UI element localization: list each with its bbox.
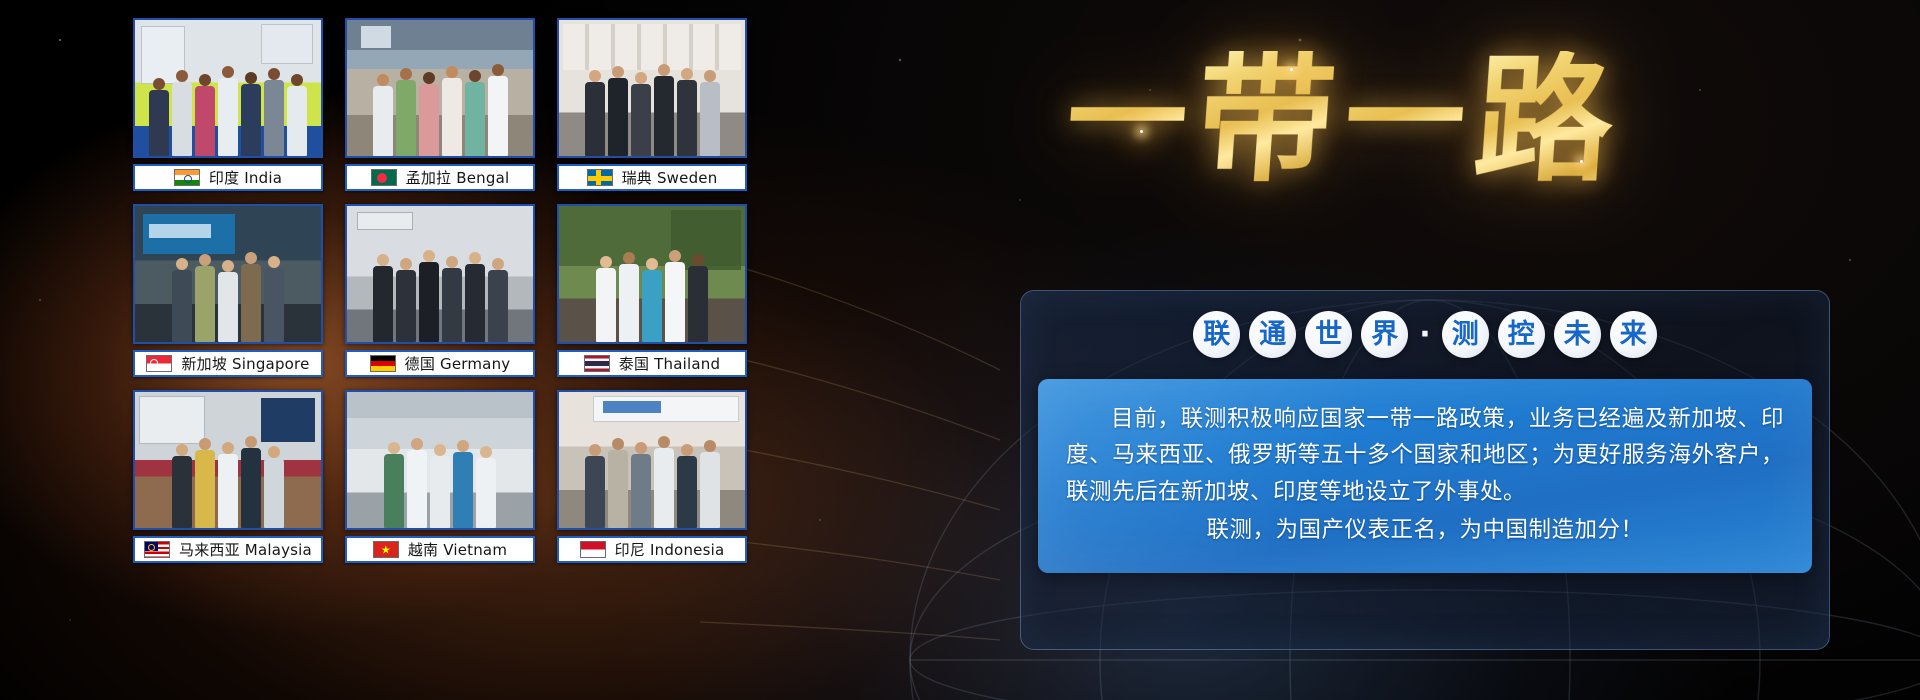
photo-caption: 新加坡 Singapore [133, 350, 323, 377]
slogan-badge: 联 [1193, 311, 1240, 358]
photo-thumbnail[interactable] [557, 390, 747, 530]
flag-sweden-icon [587, 169, 613, 186]
slogan-badge: 来 [1610, 311, 1657, 358]
headline-char-2: 带 [1192, 51, 1340, 189]
photo-cell[interactable]: 孟加拉 Bengal [345, 18, 535, 196]
photo-caption: 印尼 Indonesia [557, 536, 747, 563]
photo-cell[interactable]: 越南 Vietnam [345, 390, 535, 568]
headline-char-4: 路 [1470, 51, 1618, 189]
photo-image [347, 20, 533, 156]
caption-label: 德国 Germany [405, 353, 511, 374]
photo-caption: 德国 Germany [345, 350, 535, 377]
flag-thailand-icon [584, 355, 610, 372]
caption-label: 马来西亚 Malaysia [179, 539, 312, 560]
slogan-badge: 控 [1498, 311, 1545, 358]
photo-thumbnail[interactable] [345, 204, 535, 344]
description-paragraph-2: 联测，为国产仪表正名，为中国制造加分！ [1066, 512, 1784, 548]
headline-char-1: 一 [1063, 60, 1191, 180]
headline-char-3: 一 [1341, 60, 1469, 180]
photo-caption: 印度 India [133, 164, 323, 191]
caption-label: 越南 Vietnam [408, 539, 507, 560]
slogan-badge: 界 [1361, 311, 1408, 358]
sparkle-icon [1580, 160, 1583, 163]
photo-image [559, 392, 745, 528]
photo-thumbnail[interactable] [133, 18, 323, 158]
photo-thumbnail[interactable] [557, 204, 747, 344]
headline-calligraphy: 一 带 一 路 [1020, 10, 1660, 230]
photo-caption: 泰国 Thailand [557, 350, 747, 377]
photo-cell[interactable]: 德国 Germany [345, 204, 535, 382]
sparkle-icon [1290, 68, 1293, 71]
photo-thumbnail[interactable] [133, 204, 323, 344]
caption-label: 印度 India [209, 167, 282, 188]
info-panel: 联 通 世 界 · 测 控 未 来 目前，联测积极响应国家一带一路政策，业务已经… [1020, 290, 1830, 650]
slogan-badge: 测 [1442, 311, 1489, 358]
photo-image [559, 206, 745, 342]
photo-cell[interactable]: 印尼 Indonesia [557, 390, 747, 568]
photo-image [347, 206, 533, 342]
photo-thumbnail[interactable] [345, 18, 535, 158]
photo-caption: 瑞典 Sweden [557, 164, 747, 191]
slogan-badge: 未 [1554, 311, 1601, 358]
caption-label: 印尼 Indonesia [615, 539, 725, 560]
flag-vietnam-icon [373, 541, 399, 558]
flag-singapore-icon [146, 355, 172, 372]
caption-label: 孟加拉 Bengal [406, 167, 510, 188]
slogan-separator-dot: · [1417, 320, 1432, 350]
flag-india-icon [174, 169, 200, 186]
caption-label: 瑞典 Sweden [622, 167, 718, 188]
description-card: 目前，联测积极响应国家一带一路政策，业务已经遍及新加坡、印度、马来西亚、俄罗斯等… [1038, 379, 1812, 573]
slogan-badge: 通 [1249, 311, 1296, 358]
flag-indonesia-icon [580, 541, 606, 558]
photo-image [135, 392, 321, 528]
flag-malaysia-icon [144, 541, 170, 558]
photo-thumbnail[interactable] [133, 390, 323, 530]
photo-grid: 印度 India [133, 18, 753, 584]
flag-germany-icon [370, 355, 396, 372]
photo-thumbnail[interactable] [345, 390, 535, 530]
caption-label: 新加坡 Singapore [181, 353, 309, 374]
photo-cell[interactable]: 马来西亚 Malaysia [133, 390, 323, 568]
photo-caption: 马来西亚 Malaysia [133, 536, 323, 563]
photo-image [135, 20, 321, 156]
photo-image [135, 206, 321, 342]
photo-cell[interactable]: 新加坡 Singapore [133, 204, 323, 382]
description-paragraph-1: 目前，联测积极响应国家一带一路政策，业务已经遍及新加坡、印度、马来西亚、俄罗斯等… [1066, 401, 1784, 510]
photo-cell[interactable]: 印度 India [133, 18, 323, 196]
photo-cell[interactable]: 泰国 Thailand [557, 204, 747, 382]
banner-stage: 印度 India [0, 0, 1920, 700]
photo-image [347, 392, 533, 528]
slogan-badge: 世 [1305, 311, 1352, 358]
caption-label: 泰国 Thailand [619, 353, 720, 374]
flag-bangladesh-icon [371, 169, 397, 186]
photo-cell[interactable]: 瑞典 Sweden [557, 18, 747, 196]
slogan-row: 联 通 世 界 · 测 控 未 来 [1021, 311, 1829, 358]
photo-image [559, 20, 745, 156]
sparkle-icon [1140, 130, 1143, 133]
photo-caption: 孟加拉 Bengal [345, 164, 535, 191]
photo-caption: 越南 Vietnam [345, 536, 535, 563]
photo-thumbnail[interactable] [557, 18, 747, 158]
